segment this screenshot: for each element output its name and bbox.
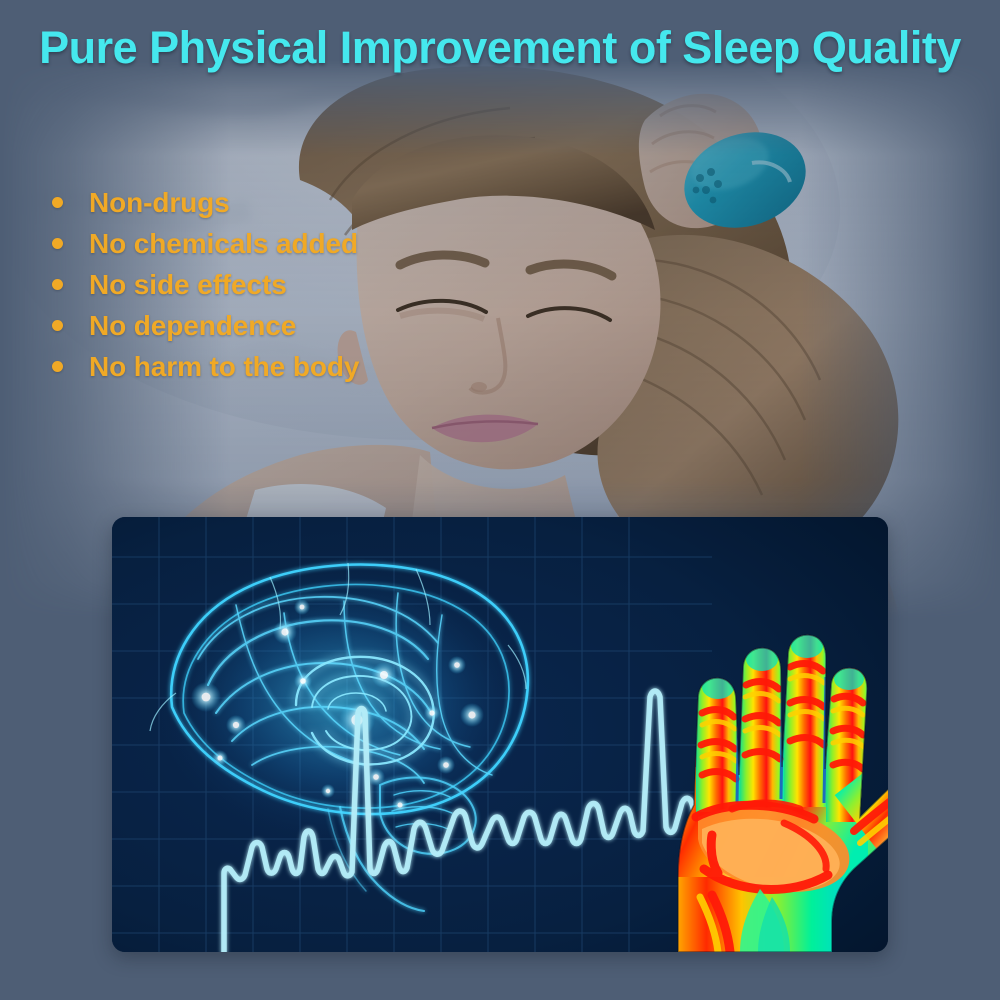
bullet-dot-icon — [52, 361, 63, 372]
bullet-dot-icon — [52, 197, 63, 208]
list-item: No side effects — [52, 264, 359, 305]
benefit-label: No chemicals added — [89, 228, 358, 260]
brain-thermal-panel — [112, 517, 888, 952]
list-item: No harm to the body — [52, 346, 359, 387]
benefit-label: Non-drugs — [89, 187, 230, 219]
bullet-dot-icon — [52, 279, 63, 290]
bullet-dot-icon — [52, 320, 63, 331]
benefit-label: No dependence — [89, 310, 296, 342]
list-item: No dependence — [52, 305, 359, 346]
poster-canvas: Pure Physical Improvement of Sleep Quali… — [0, 0, 1000, 1000]
benefits-list: Non-drugs No chemicals added No side eff… — [52, 182, 359, 387]
list-item: No chemicals added — [52, 223, 359, 264]
benefit-label: No side effects — [89, 269, 287, 301]
benefit-label: No harm to the body — [89, 351, 359, 383]
list-item: Non-drugs — [52, 182, 359, 223]
bullet-dot-icon — [52, 238, 63, 249]
page-title: Pure Physical Improvement of Sleep Quali… — [0, 24, 1000, 71]
